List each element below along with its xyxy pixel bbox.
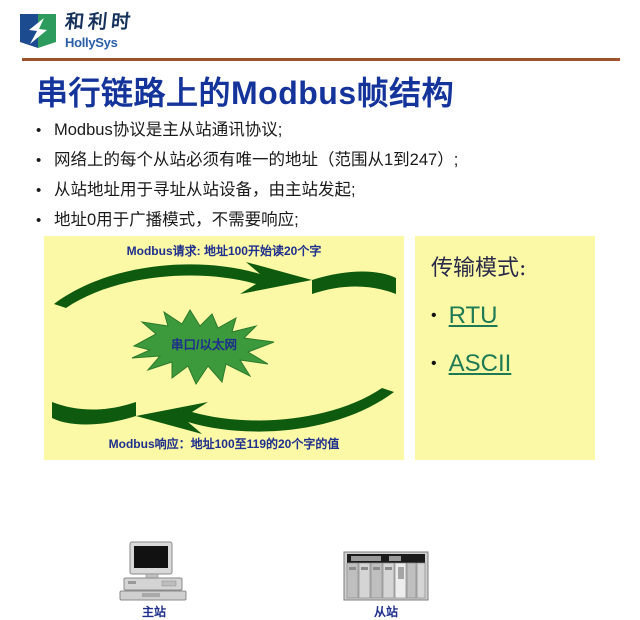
logo-chinese-name: 和利时 xyxy=(64,13,135,34)
slave-device: 从站 xyxy=(340,551,432,620)
modbus-request-label: Modbus请求: 地址100开始读20个字 xyxy=(44,242,404,259)
bullet-marker-icon: • xyxy=(36,213,54,228)
logo-wordmark: 和利时 HollySys xyxy=(65,13,134,49)
request-arrow-icon xyxy=(50,260,398,308)
bullet-marker-icon: • xyxy=(36,123,54,138)
bullet-marker-icon: • xyxy=(431,356,437,372)
bullet-marker-icon: • xyxy=(36,153,54,168)
hollysys-logo: 和利时 HollySys xyxy=(18,12,134,50)
bullet-text: 地址0用于广播模式，不需要响应; xyxy=(54,206,299,230)
response-arrow-icon xyxy=(50,388,398,436)
bullet-marker-icon: • xyxy=(431,308,437,324)
hollysys-bolt-logo-icon xyxy=(18,12,58,50)
bullet-text: 从站地址用于寻址从站设备，由主站发起; xyxy=(54,176,356,200)
transmission-modes-panel: 传输模式: • RTU • ASCII xyxy=(415,236,595,460)
bullet-text: Modbus协议是主从站通讯协议; xyxy=(54,116,282,140)
plc-rack-icon xyxy=(343,551,429,601)
header-divider xyxy=(22,58,620,61)
list-item: • 网络上的每个从站必须有唯一的地址（范围从1到247）; xyxy=(36,146,616,176)
mode-link-ascii[interactable]: ASCII xyxy=(449,350,512,378)
master-caption: 主站 xyxy=(108,603,200,620)
slave-caption: 从站 xyxy=(340,603,432,620)
page-title: 串行链路上的Modbus帧结构 xyxy=(36,68,454,114)
logo-english-name: HollySys xyxy=(65,36,134,49)
bullet-text: 网络上的每个从站必须有唯一的地址（范围从1到247）; xyxy=(54,146,458,170)
list-item: • Modbus协议是主从站通讯协议; xyxy=(36,116,616,146)
bullet-list: • Modbus协议是主从站通讯协议; • 网络上的每个从站必须有唯一的地址（范… xyxy=(36,116,616,236)
desktop-computer-icon xyxy=(118,541,190,601)
list-item: • 地址0用于广播模式，不需要响应; xyxy=(36,206,616,236)
list-item: • 从站地址用于寻址从站设备，由主站发起; xyxy=(36,176,616,206)
master-device: 主站 xyxy=(108,541,200,620)
modes-title: 传输模式: xyxy=(431,250,526,282)
mode-item-rtu[interactable]: • RTU xyxy=(431,302,498,330)
mode-link-rtu[interactable]: RTU xyxy=(449,302,498,330)
burst-label: 串口/以太网 xyxy=(130,334,278,353)
bullet-marker-icon: • xyxy=(36,183,54,198)
modbus-response-label: Modbus响应：地址100至119的20个字的值 xyxy=(44,435,404,452)
slide-header: 和利时 HollySys xyxy=(0,0,640,58)
mode-item-ascii[interactable]: • ASCII xyxy=(431,350,511,378)
